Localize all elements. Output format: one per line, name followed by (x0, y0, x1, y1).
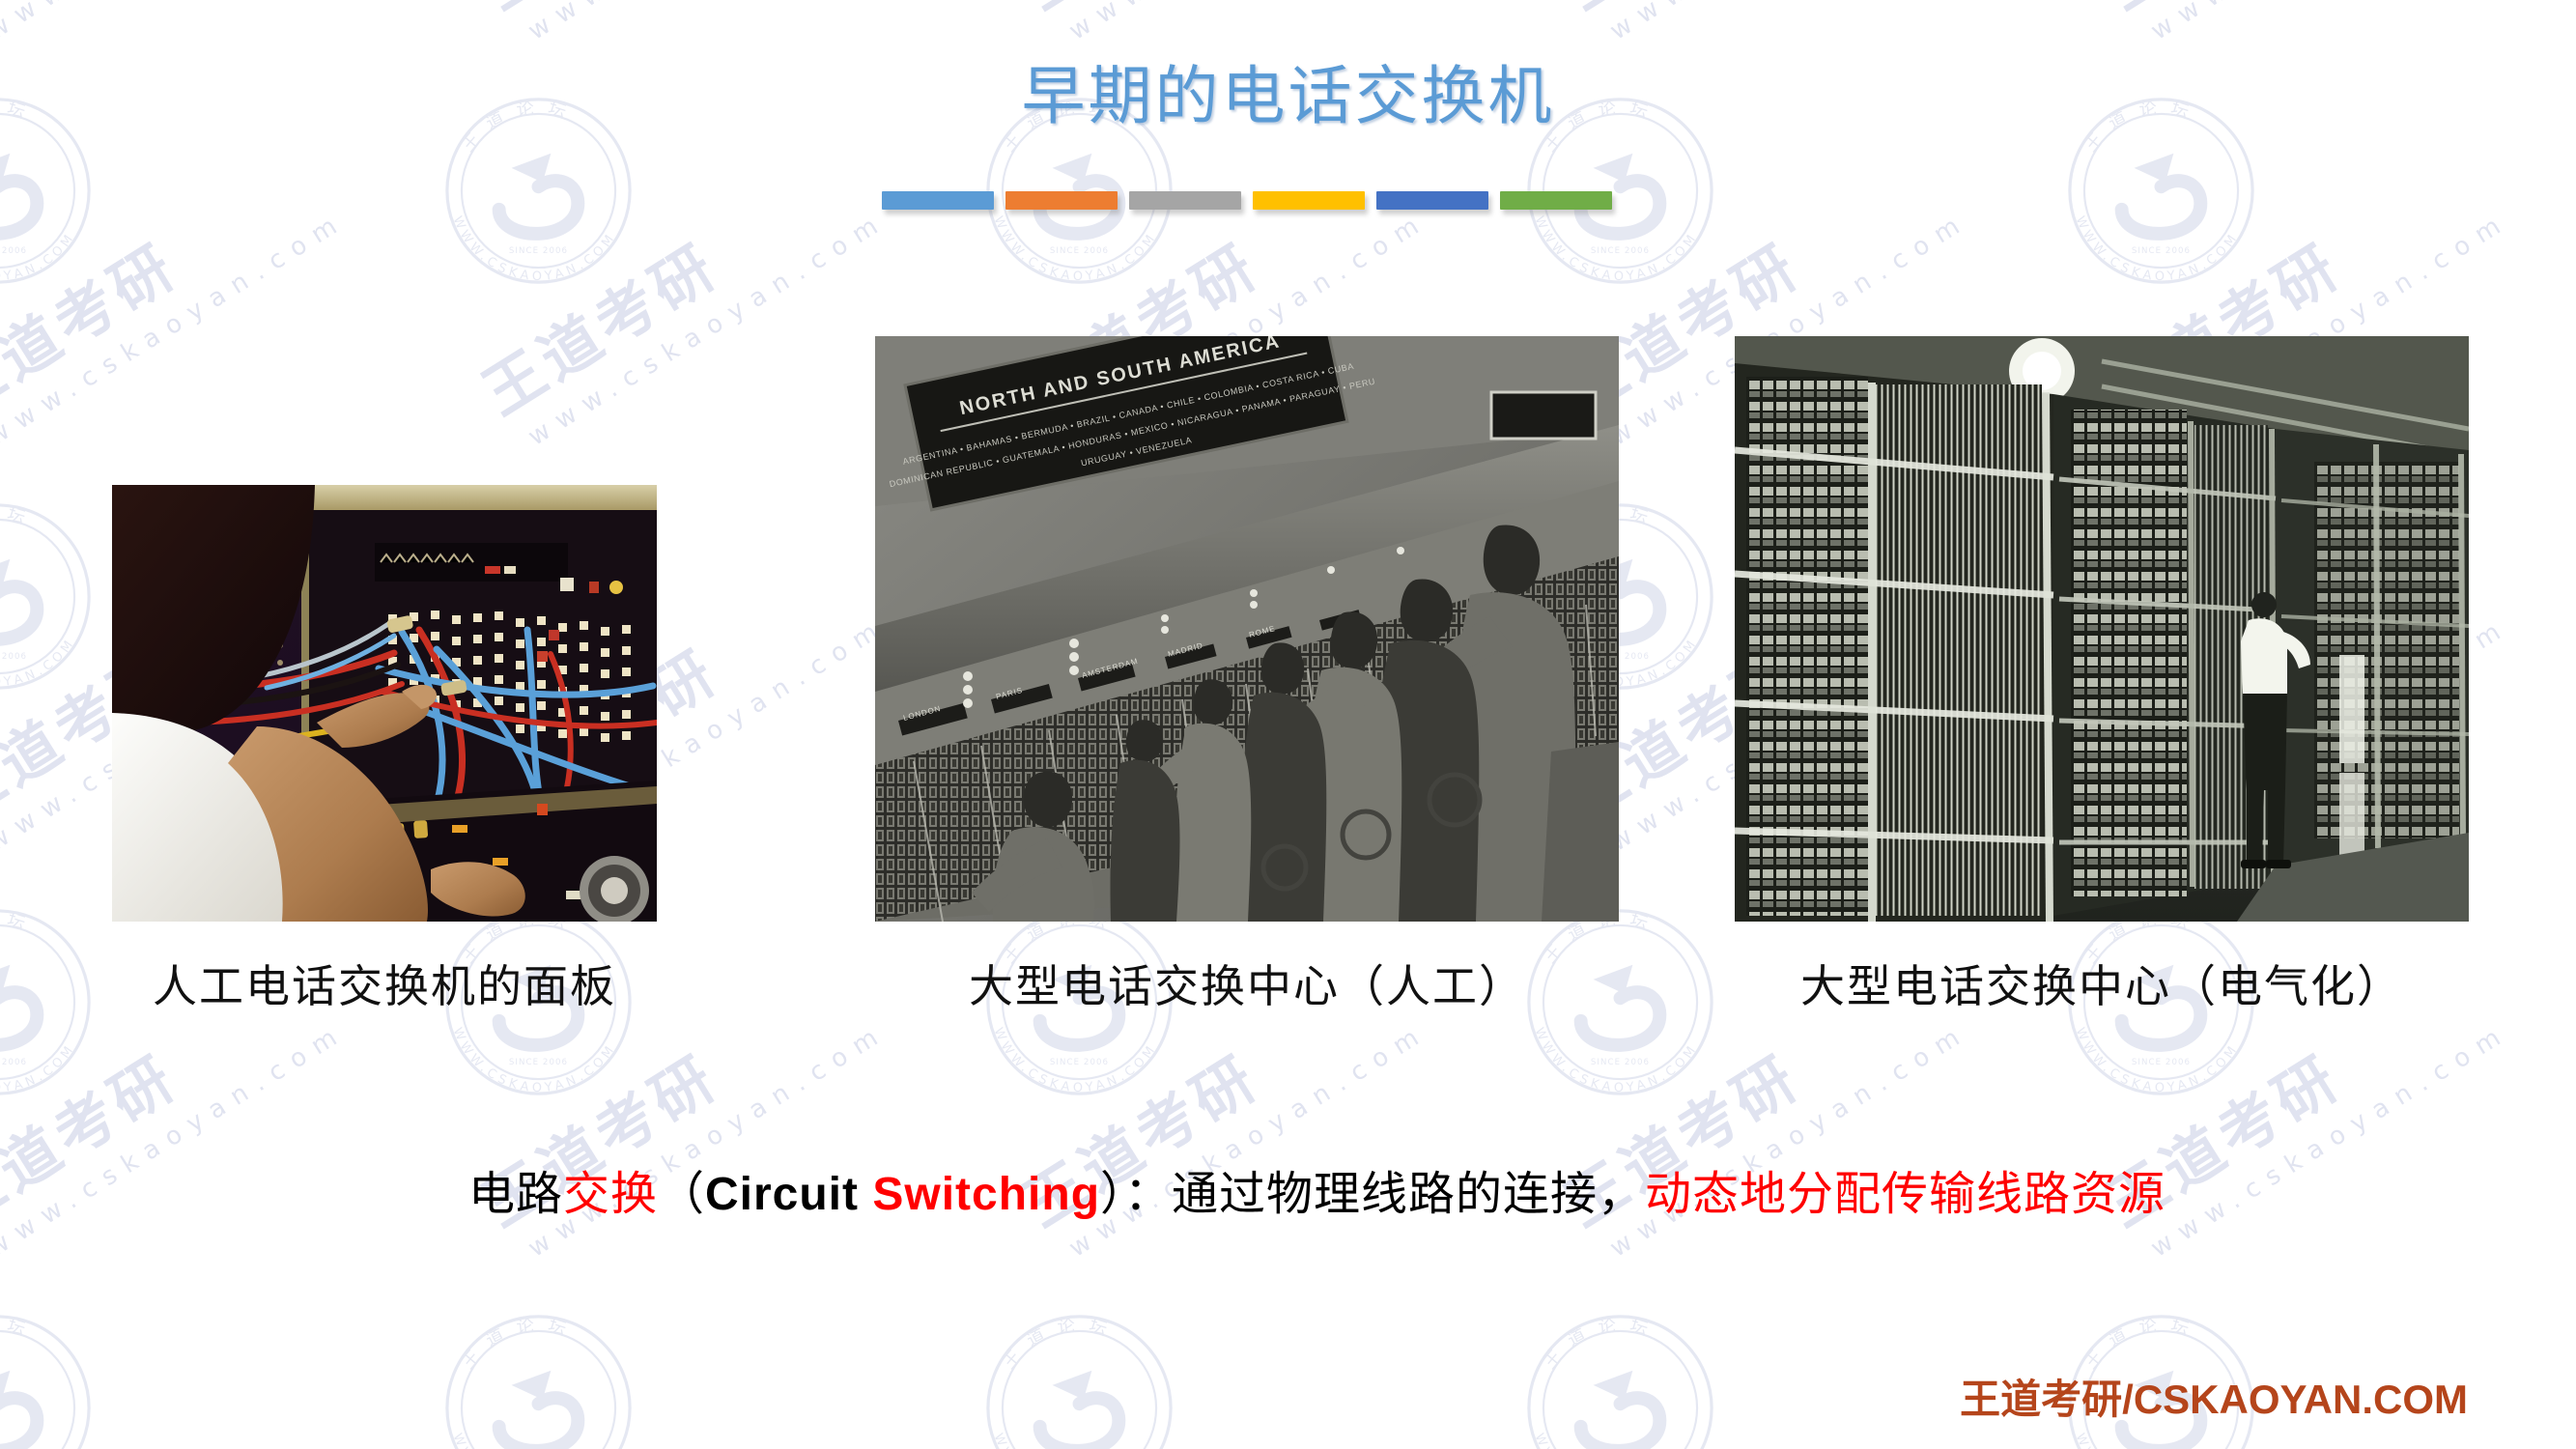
exchange-manual-illustration: NORTH AND SOUTH AMERICA ARGENTINA • BAHA… (875, 336, 1619, 922)
photo-exchange-manual: NORTH AND SOUTH AMERICA ARGENTINA • BAHA… (875, 336, 1619, 922)
photo-row: NORTH AND SOUTH AMERICA ARGENTINA • BAHA… (0, 0, 2576, 1449)
body-segment-3: Circuit (705, 1169, 872, 1220)
accent-bar-group (882, 191, 1612, 210)
footer-brand: 王道考研/CSKAOYAN.COM (1960, 1367, 2468, 1426)
caption-exchange-auto: 大型电话交换中心（电气化） (1735, 952, 2469, 1015)
body-statement: 电路交换（Circuit Switching）：通过物理线路的连接，动态地分配传… (0, 1155, 2576, 1223)
caption-manual-panel: 人工电话交换机的面板 (112, 952, 657, 1015)
bar-yellow (1253, 191, 1365, 210)
caption-exchange-manual: 大型电话交换中心（人工） (875, 952, 1619, 1015)
body-segment-0: 电路 (468, 1167, 563, 1221)
body-segment-5: ）：通过物理线路的连接， (1100, 1167, 1645, 1221)
bar-green (1500, 191, 1612, 210)
bar-blue (882, 191, 994, 210)
body-segment-6: 动态地分配传输线路资源 (1645, 1167, 2166, 1221)
bar-gray (1129, 191, 1241, 210)
manual-panel-illustration (112, 485, 657, 922)
bar-orange (1005, 191, 1118, 210)
photo-exchange-auto (1735, 336, 2469, 922)
photo-manual-panel (112, 485, 657, 922)
exchange-auto-illustration (1735, 336, 2469, 922)
page-title: 早期的电话交换机 (0, 44, 2576, 137)
bar-darkblue (1376, 191, 1488, 210)
body-segment-1: 交换 (563, 1167, 658, 1221)
body-segment-2: （ (658, 1167, 705, 1221)
body-segment-4: Switching (872, 1169, 1100, 1220)
